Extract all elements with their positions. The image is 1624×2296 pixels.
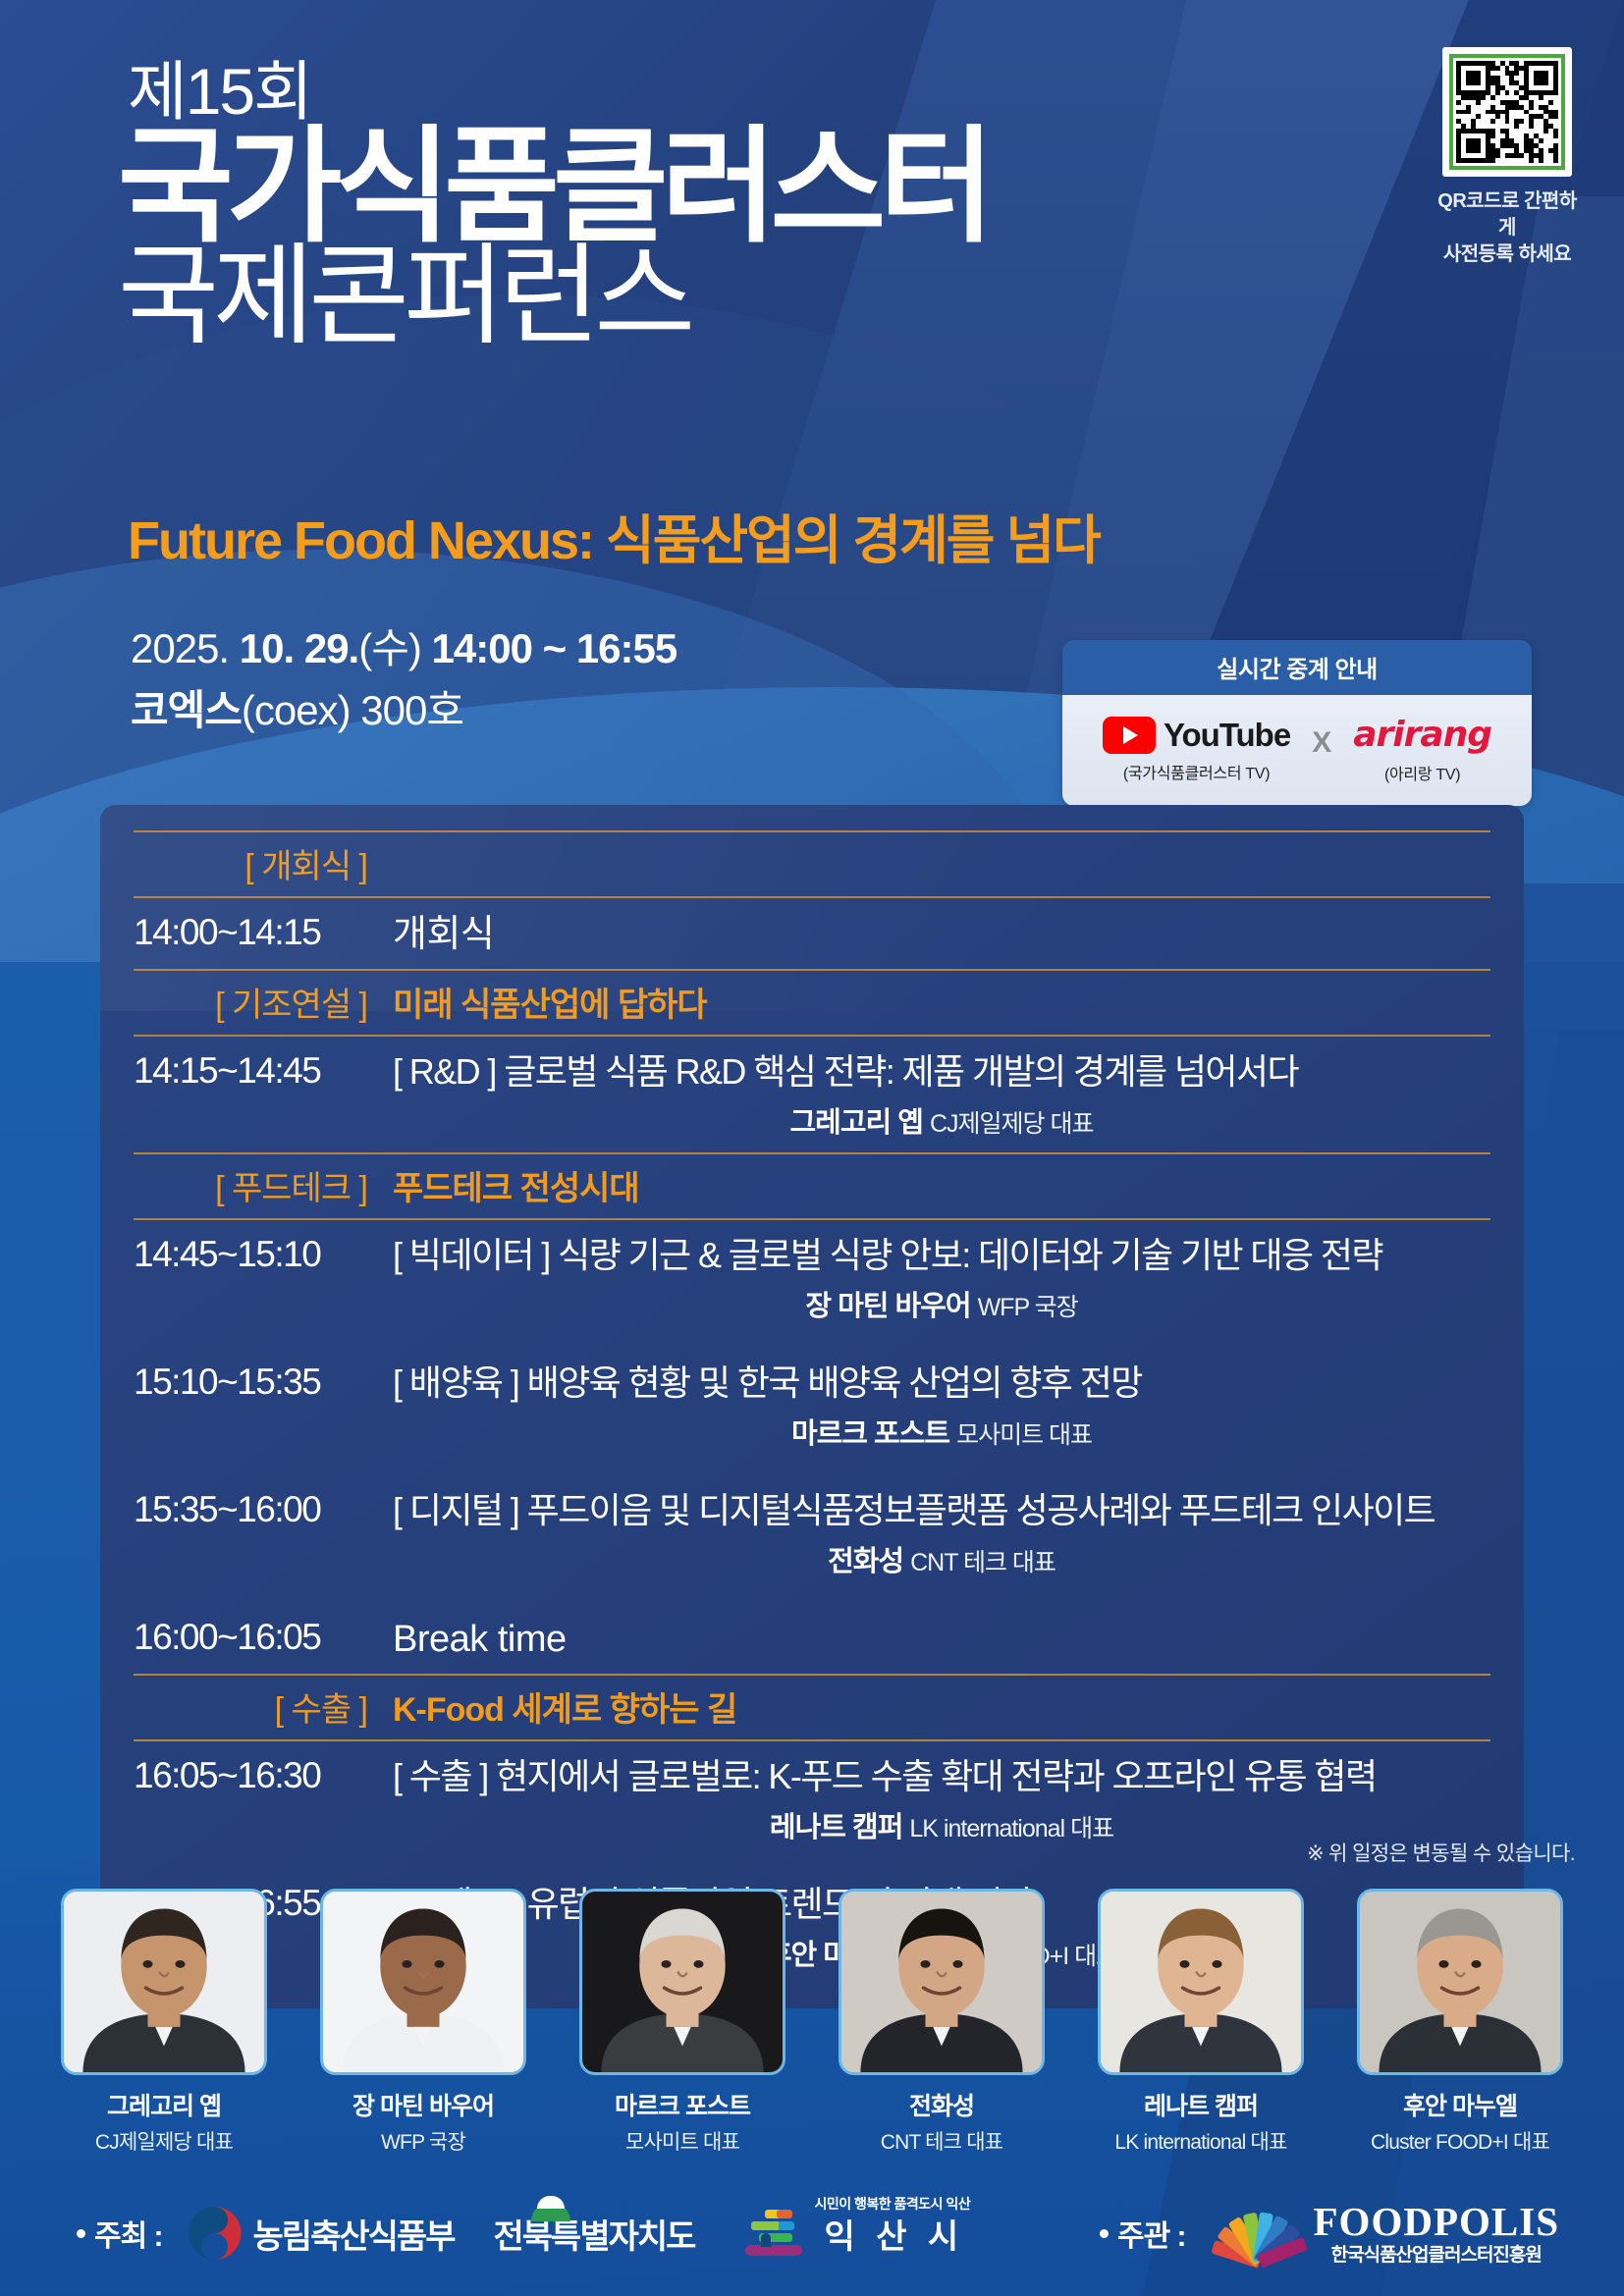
qr-caption-line1: QR코드로 간편하게	[1434, 188, 1581, 241]
schedule-row: 14:00~14:15개회식	[134, 898, 1490, 963]
schedule-row-time: 14:45~15:10	[134, 1234, 367, 1275]
speaker-photo-icon	[582, 1892, 783, 2073]
organizer-label: 주관 :	[1100, 2212, 1186, 2255]
qr-module-grid	[1456, 61, 1558, 163]
host-org-iksan: 시민이 행복한 품격도시 익산 익 산 시	[739, 2208, 964, 2259]
schedule-section-header: [ 개회식 ]	[134, 830, 1490, 898]
speaker-name: 후안 마누엘	[1357, 2087, 1563, 2122]
arirang-channel-name: (아리랑 TV)	[1353, 761, 1491, 784]
youtube-play-icon	[1103, 717, 1156, 754]
schedule-section-tag: [ 푸드테크 ]	[134, 1161, 367, 1209]
speaker-name: 그레고리 옙	[61, 2087, 267, 2122]
taegeuk-icon	[189, 2207, 242, 2260]
schedule-row-time: 14:15~14:45	[134, 1050, 367, 1092]
schedule-row: 14:15~14:45[ R&D ] 글로벌 식품 R&D 핵심 전략: 제품 …	[134, 1037, 1490, 1147]
event-dayofweek: (수)	[358, 625, 431, 671]
speaker-name: 레나트 캠퍼	[1098, 2087, 1304, 2122]
schedule-row-title: [ 빅데이터 ] 식량 기근 & 글로벌 식량 안보: 데이터와 기술 기반 대…	[393, 1234, 1490, 1277]
youtube-channel[interactable]: YouTube (국가식품클러스터 TV)	[1103, 717, 1290, 783]
schedule-section-tag: [ 수출 ]	[134, 1682, 367, 1731]
schedule-row-title: [ 배양육 ] 배양육 현황 및 한국 배양육 산업의 향후 전망	[393, 1362, 1490, 1405]
schedule-section-tag: [ 기조연설 ]	[134, 978, 367, 1026]
organizer-label-text: 주관 :	[1117, 2212, 1186, 2255]
schedule-row: 15:35~16:00[ 디지털 ] 푸드이음 및 디지털식품정보플랫폼 성공사…	[134, 1475, 1490, 1585]
poster-footer: 주최 : 농림축산식품부 전북특별자치도	[0, 2189, 1624, 2277]
speaker-photo-icon	[841, 1892, 1042, 2073]
schedule-row-speaker: 마르크 포스트모사미트 대표	[393, 1411, 1490, 1452]
event-month-day: 10. 29.	[240, 625, 358, 671]
speaker-portrait	[320, 1889, 526, 2075]
slogan-separator: :	[577, 511, 606, 570]
speaker-portrait	[579, 1889, 785, 2075]
speaker-portrait	[1098, 1889, 1304, 2075]
speaker-affiliation: LK international 대표	[1098, 2126, 1304, 2156]
speaker-portrait	[61, 1889, 267, 2075]
qr-caption-line2: 사전등록 하세요	[1434, 241, 1581, 268]
schedule-row-time: 16:05~16:30	[134, 1755, 367, 1796]
speaker-card: 레나트 캠퍼LK international 대표	[1098, 1889, 1304, 2156]
speaker-photo-icon	[1360, 1892, 1560, 2073]
bullet-icon	[77, 2229, 85, 2238]
event-ordinal: 제15회	[128, 59, 311, 124]
schedule-section-title: 푸드테크 전성시대	[393, 1161, 639, 1209]
jeonbuk-icon	[527, 2196, 574, 2229]
schedule-body: [ 개회식 ]14:00~14:15개회식[ 기조연설 ]미래 식품산업에 답하…	[134, 830, 1490, 1979]
event-time-range: 14:00 ~ 16:55	[432, 625, 677, 671]
youtube-logo: YouTube	[1103, 717, 1290, 754]
venue-room: (coex) 300호	[242, 687, 463, 733]
poster-root: 제15회 국가식품클러스터 국제콘퍼런스 Future Food Nexus: …	[0, 0, 1624, 2296]
schedule-section-tag: [ 개회식 ]	[134, 839, 367, 887]
youtube-wordmark: YouTube	[1164, 717, 1290, 754]
speaker-affiliation: Cluster FOOD+I 대표	[1357, 2126, 1563, 2156]
schedule-row-speaker: 전화성CNT 테크 대표	[393, 1538, 1490, 1579]
schedule-row-spacer	[134, 1458, 1490, 1475]
qr-registration-block[interactable]: QR코드로 간편하게 사전등록 하세요	[1434, 47, 1581, 268]
event-year: 2025.	[131, 625, 240, 671]
schedule-section-header: [ 기조연설 ]미래 식품산업에 답하다	[134, 969, 1490, 1037]
event-title-line2: 국제콘퍼런스	[118, 236, 689, 356]
foodpolis-subname: 한국식품산업클러스터진흥원	[1314, 2246, 1559, 2265]
schedule-row-speaker-affiliation: CJ제일제당 대표	[930, 1110, 1094, 1138]
speaker-name: 전화성	[839, 2087, 1045, 2122]
schedule-row-title: 개회식	[393, 912, 1490, 957]
schedule-row-speaker: 장 마틴 바우어WFP 국장	[393, 1283, 1490, 1324]
slogan-english: Future Food Nexus	[128, 511, 577, 570]
event-datetime: 2025. 10. 29.(수) 14:00 ~ 16:55	[131, 620, 677, 677]
speaker-card: 후안 마누엘Cluster FOOD+I 대표	[1357, 1889, 1563, 2156]
speaker-photo-icon	[64, 1892, 264, 2073]
live-broadcast-body: YouTube (국가식품클러스터 TV) X arirang (아리랑 TV)	[1062, 695, 1532, 806]
bullet-icon-2	[1100, 2229, 1109, 2238]
foodpolis-wordmark: FOODPOLIS	[1314, 2202, 1559, 2242]
venue-name: 코엑스	[131, 687, 242, 733]
schedule-section-header: [ 수출 ]K-Food 세계로 향하는 길	[134, 1674, 1490, 1741]
schedule-section-header: [ 푸드테크 ]푸드테크 전성시대	[134, 1152, 1490, 1220]
arirang-wordmark: arirang	[1353, 715, 1491, 755]
speaker-photo-icon	[1101, 1892, 1301, 2073]
host-label-text: 주최 :	[94, 2212, 163, 2255]
speaker-affiliation: 모사미트 대표	[579, 2126, 785, 2156]
schedule-row-time: 15:35~16:00	[134, 1489, 367, 1530]
speaker-card: 그레고리 옙CJ제일제당 대표	[61, 1889, 267, 2156]
schedule-row-speaker-name: 그레고리 옙	[790, 1107, 923, 1139]
schedule-section-title: 미래 식품산업에 답하다	[393, 978, 707, 1026]
schedule-row-time: 14:00~14:15	[134, 912, 367, 953]
schedule-row-speaker-name: 전화성	[828, 1546, 903, 1577]
schedule-row-time: 15:10~15:35	[134, 1362, 367, 1403]
host-org-maf-name: 농림축산식품부	[253, 2210, 455, 2258]
event-slogan: Future Food Nexus: 식품산업의 경계를 넘다	[128, 510, 1100, 571]
speaker-affiliation: WFP 국장	[320, 2126, 526, 2156]
host-org-jeonbuk: 전북특별자치도	[494, 2210, 695, 2258]
speaker-portrait	[839, 1889, 1045, 2075]
speaker-photo-icon	[323, 1892, 523, 2073]
speaker-portrait	[1357, 1889, 1563, 2075]
host-org-iksan-name: 익 산 시	[824, 2210, 964, 2258]
speaker-name: 장 마틴 바우어	[320, 2087, 526, 2122]
foodpolis-fan-icon	[1212, 2205, 1302, 2262]
schedule-row-title: Break time	[393, 1617, 1490, 1662]
schedule-row: 15:10~15:35[ 배양육 ] 배양육 현황 및 한국 배양육 산업의 향…	[134, 1348, 1490, 1458]
schedule-row-speaker: 그레고리 옙CJ제일제당 대표	[393, 1099, 1490, 1141]
slogan-korean: 식품산업의 경계를 넘다	[606, 511, 1100, 570]
qr-code-icon[interactable]	[1442, 47, 1572, 177]
schedule-row-title: [ 디지털 ] 푸드이음 및 디지털식품정보플랫폼 성공사례와 푸드테크 인사이…	[393, 1489, 1490, 1532]
host-org-jeonbuk-name: 전북특별자치도	[494, 2210, 695, 2258]
schedule-row-time: 16:00~16:05	[134, 1617, 367, 1658]
speaker-card: 마르크 포스트모사미트 대표	[579, 1889, 785, 2156]
schedule-row: 16:05~16:30[ 수출 ] 현지에서 글로벌로: K-푸드 수출 확대 …	[134, 1741, 1490, 1851]
schedule-row-spacer	[134, 1330, 1490, 1348]
schedule-row-speaker-name: 장 마틴 바우어	[805, 1291, 970, 1322]
schedule-row-speaker-affiliation: CNT 테크 대표	[910, 1549, 1056, 1576]
schedule-row: 16:00~16:05Break time	[134, 1603, 1490, 1668]
iksan-icon	[739, 2208, 812, 2259]
schedule-row-speaker-affiliation: WFP 국장	[978, 1294, 1078, 1321]
schedule-row-title: [ 수출 ] 현지에서 글로벌로: K-푸드 수출 확대 전략과 오프라인 유통…	[393, 1755, 1490, 1798]
schedule-row: 14:45~15:10[ 빅데이터 ] 식량 기근 & 글로벌 식량 안보: 데…	[134, 1220, 1490, 1330]
schedule-section-title: K-Food 세계로 향하는 길	[393, 1682, 736, 1731]
speaker-affiliation: CJ제일제당 대표	[61, 2126, 267, 2156]
host-org-maf: 농림축산식품부	[189, 2207, 455, 2260]
speaker-name: 마르크 포스트	[579, 2087, 785, 2122]
schedule-row-speaker-name: 마르크 포스트	[791, 1418, 949, 1450]
speaker-card: 장 마틴 바우어WFP 국장	[320, 1889, 526, 2156]
speaker-card: 전화성CNT 테크 대표	[839, 1889, 1045, 2156]
host-label: 주최 :	[77, 2212, 163, 2255]
speaker-affiliation: CNT 테크 대표	[839, 2126, 1045, 2156]
schedule-row-spacer	[134, 1585, 1490, 1603]
schedule-row-speaker-affiliation: 모사미트 대표	[956, 1421, 1092, 1449]
speaker-gallery: 그레고리 옙CJ제일제당 대표장 마틴 바우어WFP 국장마르크 포스트모사미트…	[61, 1889, 1563, 2156]
schedule-row-title: [ R&D ] 글로벌 식품 R&D 핵심 전략: 제품 개발의 경계를 넘어서…	[393, 1050, 1490, 1094]
iksan-tagline: 시민이 행복한 품격도시 익산	[814, 2194, 970, 2214]
arirang-channel[interactable]: arirang (아리랑 TV)	[1353, 715, 1491, 784]
schedule-panel: [ 개회식 ]14:00~14:15개회식[ 기조연설 ]미래 식품산업에 답하…	[100, 805, 1524, 2008]
organizer-org-foodpolis: FOODPOLIS 한국식품산업클러스터진흥원	[1212, 2202, 1559, 2265]
schedule-disclaimer: ※ 위 일정은 변동될 수 있습니다.	[0, 1838, 1575, 1867]
event-venue: 코엑스(coex) 300호	[131, 677, 463, 737]
youtube-channel-name: (국가식품클러스터 TV)	[1103, 760, 1290, 783]
qr-caption: QR코드로 간편하게 사전등록 하세요	[1434, 188, 1581, 268]
broadcast-separator-icon: X	[1312, 726, 1331, 774]
live-broadcast-box: 실시간 중계 안내 YouTube (국가식품클러스터 TV) X ariran…	[1062, 640, 1532, 806]
live-broadcast-heading: 실시간 중계 안내	[1062, 640, 1532, 695]
